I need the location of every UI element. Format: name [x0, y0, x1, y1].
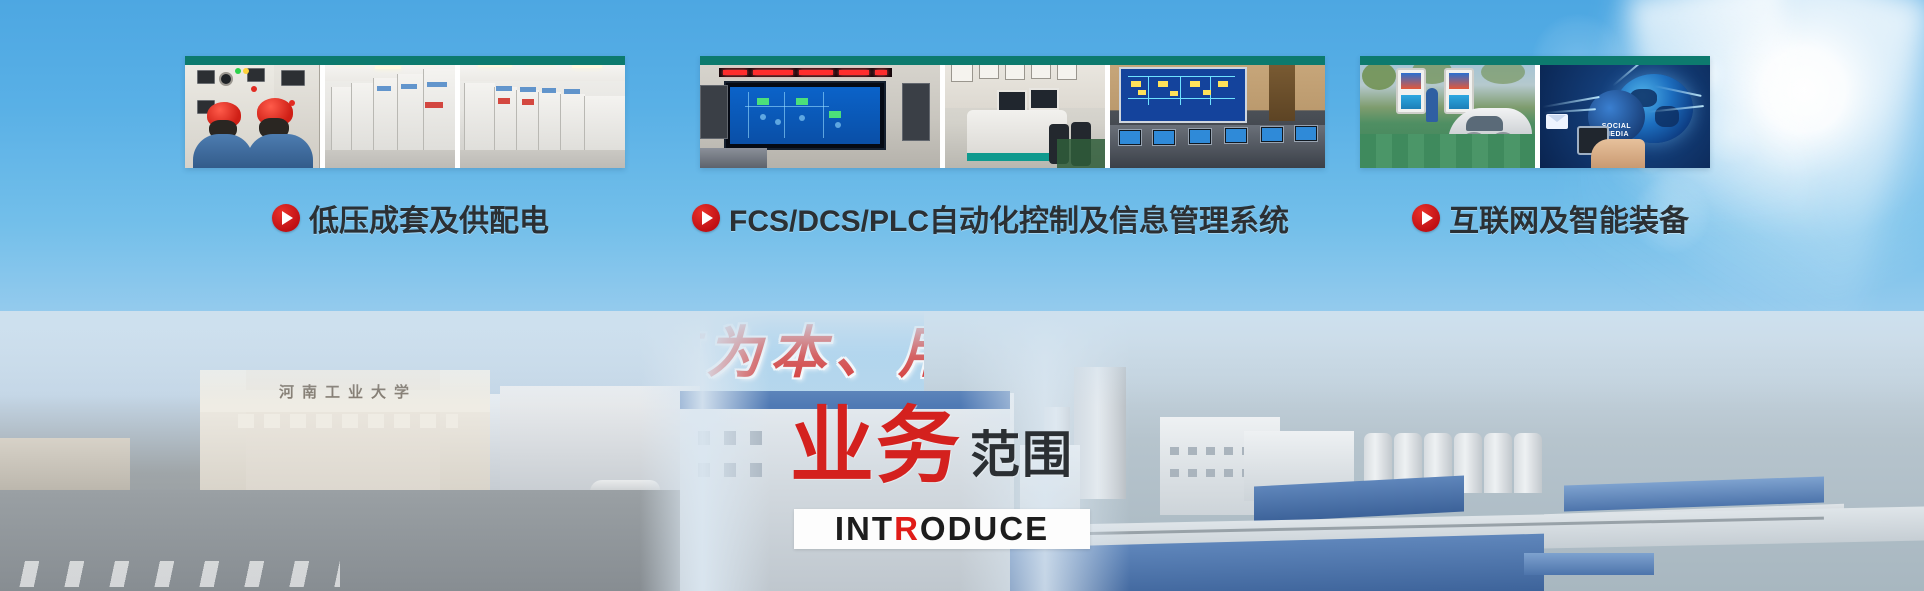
section-title-chinese: 业务 范围: [790, 405, 1074, 491]
thumbnail-group-internet-equipment[interactable]: SOCIAL MEDIA: [1360, 56, 1710, 168]
workers-switchgear-panel-photo[interactable]: [185, 56, 320, 168]
switchgear-corridor-photo[interactable]: [325, 56, 455, 168]
section-title-sub: 范围: [970, 425, 1074, 491]
section-title-english: INTRODUCE: [794, 509, 1090, 549]
mimic-board-operator-row-photo[interactable]: [1110, 56, 1325, 168]
section-title-block: 业务 范围 INTRODUCE: [790, 405, 1130, 580]
category-thumbnail-groups: SOCIAL MEDIA: [0, 56, 1924, 168]
category-label-internet-equipment[interactable]: 互联网及智能装备: [1412, 196, 1689, 240]
sun-ray-secondary: [1631, 0, 1827, 339]
campus-gate-photo: 河南工业大学: [0, 311, 700, 591]
led-video-wall-control-room-photo[interactable]: [700, 56, 940, 168]
category-label-text: 互联网及智能装备: [1449, 196, 1689, 240]
category-label-low-voltage[interactable]: 低压成套及供配电: [272, 196, 549, 240]
category-labels: 低压成套及供配电 FCS/DCS/PLC自动化控制及信息管理系统 互联网及智能装…: [0, 196, 1924, 252]
operator-console-desk-photo[interactable]: [945, 56, 1105, 168]
section-title-main: 业务: [790, 405, 962, 491]
title-en-accent: R: [894, 510, 920, 547]
campus-gate-name: 河南工业大学: [268, 381, 428, 402]
play-circle-icon: [272, 204, 300, 232]
play-circle-icon: [692, 204, 720, 232]
thumbnail-group-low-voltage[interactable]: [185, 56, 625, 168]
category-label-text: FCS/DCS/PLC自动化控制及信息管理系统: [729, 196, 1289, 240]
title-en-suffix: ODUCE: [920, 510, 1049, 547]
distribution-room-photo[interactable]: [460, 56, 625, 168]
category-label-text: 低压成套及供配电: [309, 196, 549, 240]
social-media-globe-network-photo[interactable]: SOCIAL MEDIA: [1540, 56, 1710, 168]
category-label-automation[interactable]: FCS/DCS/PLC自动化控制及信息管理系统: [692, 196, 1289, 240]
thumbnail-group-automation[interactable]: [700, 56, 1325, 168]
play-circle-icon: [1412, 204, 1440, 232]
self-service-car-wash-station-photo[interactable]: [1360, 56, 1535, 168]
title-en-prefix: INT: [835, 510, 894, 547]
business-scope-banner: SOCIAL MEDIA 低压成套及供配电: [0, 0, 1924, 591]
panorama-left-blend: [640, 311, 770, 591]
